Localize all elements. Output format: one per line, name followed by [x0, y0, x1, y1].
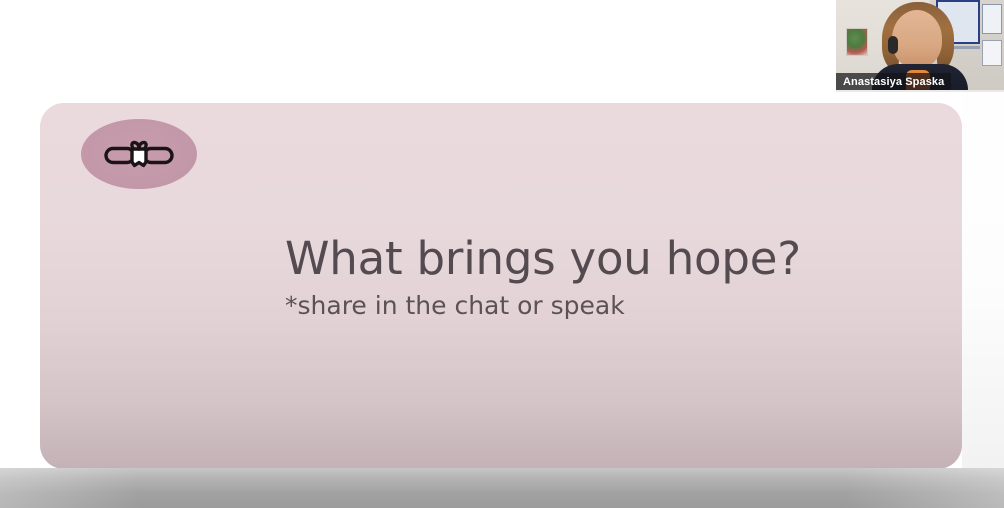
wall-artwork: [846, 28, 868, 56]
participant-name-badge: Anastasiya Spaska: [836, 73, 951, 90]
slide-headline: What brings you hope?: [285, 235, 925, 282]
wall-poster-small-top: [982, 4, 1002, 34]
participant-name-label: Anastasiya Spaska: [843, 76, 944, 88]
participant-video-tile[interactable]: Anastasiya Spaska: [836, 0, 1004, 90]
wall-poster-small-bottom: [982, 40, 1002, 66]
butterfly-logo-icon: [103, 137, 175, 171]
participant-face: [892, 10, 942, 68]
video-tile-underline: [836, 90, 1004, 92]
screen-share-stage: What brings you hope? *share in the chat…: [0, 0, 1004, 508]
slide-subtitle: *share in the chat or speak: [285, 292, 925, 320]
butterfly-logo-badge: [81, 119, 197, 189]
headset-icon: [888, 36, 898, 54]
presentation-slide[interactable]: What brings you hope? *share in the chat…: [40, 103, 962, 469]
slide-text-block: What brings you hope? *share in the chat…: [285, 235, 925, 320]
viewer-bottom-band: [0, 468, 1004, 508]
